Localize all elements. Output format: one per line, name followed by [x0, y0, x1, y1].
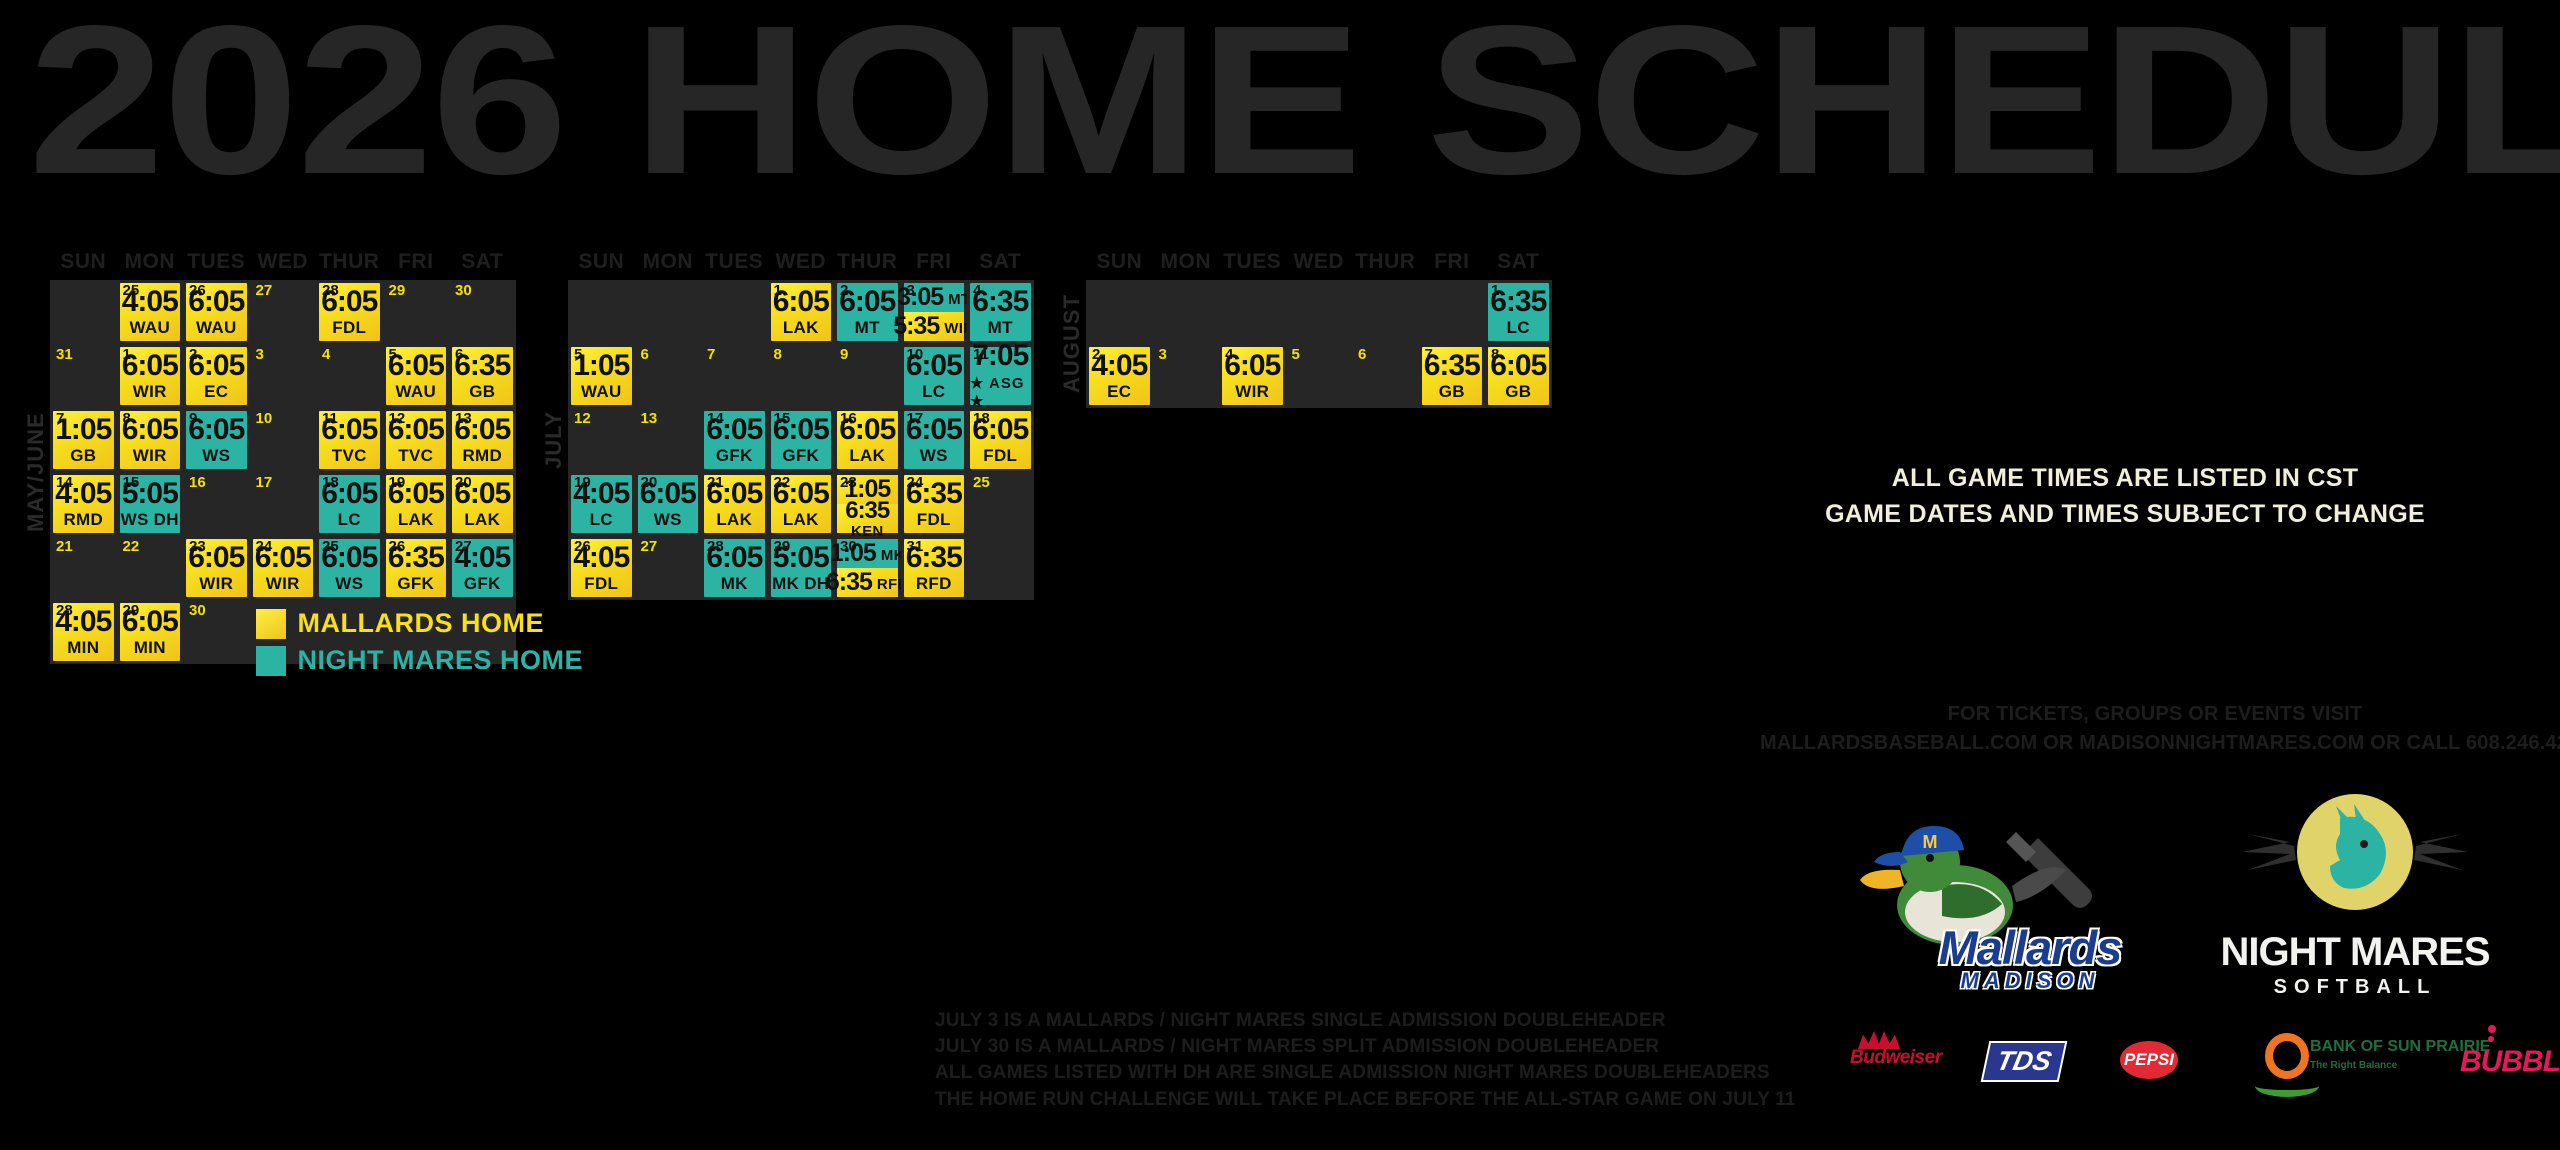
game-half: 5:35WIR — [904, 312, 965, 341]
calendar-day: 12 — [568, 408, 635, 472]
calendar-day: 16 — [183, 472, 250, 536]
legend-label-mallards: MALLARDS HOME — [298, 608, 544, 639]
game-opponent: WS DH — [121, 511, 179, 528]
calendar-day — [635, 280, 702, 344]
dow-tues: TUES — [183, 250, 250, 274]
day-number: 20 — [641, 475, 658, 490]
dow-sat: SAT — [967, 250, 1034, 274]
mallards-wordmark: Mallards — [1905, 920, 2155, 975]
day-number: 27 — [641, 539, 658, 554]
day-number: 5 — [574, 347, 582, 362]
game-half: 6:35KEN — [837, 504, 898, 533]
dow-sun: SUN — [1086, 250, 1153, 274]
footnote-2: JULY 30 IS A MALLARDS / NIGHT MARES SPLI… — [935, 1034, 1745, 1060]
calendar-day-game[interactable]: 6:35FDL24 — [901, 472, 968, 536]
legend-row-nightmares: NIGHT MARES HOME — [256, 645, 584, 676]
game-opponent: LAK — [398, 511, 434, 528]
calendar-day — [1419, 280, 1486, 344]
calendar-day: 4 — [316, 344, 383, 408]
calendar-day-game[interactable]: 6:05RMD13 — [449, 408, 516, 472]
page-title: 2026 HOME SCHEDULES — [28, 0, 2560, 206]
game-opponent: FDL — [983, 447, 1017, 464]
tickets-line-2[interactable]: MALLARDSBASEBALL.COM OR MADISONNIGHTMARE… — [1760, 729, 2550, 758]
day-number: 20 — [455, 475, 472, 490]
calendar-day-game[interactable]: 6:05WIR24 — [250, 536, 317, 600]
day-number: 1 — [774, 283, 782, 298]
calendar-day: 3 — [1153, 344, 1220, 408]
footnote-3: ALL GAMES LISTED WITH DH ARE SINGLE ADMI… — [935, 1060, 1745, 1086]
game-opponent: LC — [1507, 319, 1530, 336]
calendar-day-game[interactable]: 4:05EC2 — [1086, 344, 1153, 408]
calendar-day-game[interactable]: 6:05LC18 — [316, 472, 383, 536]
tickets-line-1: FOR TICKETS, GROUPS OR EVENTS VISIT — [1760, 700, 2550, 729]
footnote-1: JULY 3 IS A MALLARDS / NIGHT MARES SINGL… — [935, 1008, 1745, 1034]
day-number: 27 — [455, 539, 472, 554]
calendar-day — [967, 536, 1034, 600]
all-star-game-label: ★ ASG ★ — [970, 374, 1031, 410]
game-opponent: LAK — [783, 511, 819, 528]
calendar-day-game[interactable]: 1:05GB7 — [50, 408, 117, 472]
calendar-day-game[interactable]: 4:05LC19 — [568, 472, 635, 536]
calendar-day-game[interactable]: 4:05RMD14 — [50, 472, 117, 536]
day-number: 19 — [389, 475, 406, 490]
game-opponent: LC — [922, 383, 945, 400]
game-opponent: LAK — [716, 511, 752, 528]
day-number: 17 — [256, 475, 273, 490]
game-opponent: LAK — [464, 511, 500, 528]
calendar-day — [1286, 280, 1353, 344]
game-opponent: MK — [721, 575, 748, 592]
game-opponent: WIR — [1235, 383, 1269, 400]
day-number: 24 — [907, 475, 924, 490]
calendar-day: 7 — [701, 344, 768, 408]
calendar-day-game[interactable]: 6:05LAK16 — [834, 408, 901, 472]
dow-mon: MON — [635, 250, 702, 274]
dow-header: SUNMONTUESWEDTHURFRISAT — [50, 248, 516, 274]
game-opponent: GFK — [397, 575, 434, 592]
dow-sat: SAT — [1485, 250, 1552, 274]
game-opponent: MK DH — [772, 575, 829, 592]
day-number: 6 — [455, 347, 463, 362]
day-number: 26 — [189, 283, 206, 298]
day-number: 9 — [840, 347, 848, 362]
bubblr-dot-icon — [2488, 1025, 2496, 1033]
day-number: 30 — [189, 603, 206, 618]
day-number: 24 — [256, 539, 273, 554]
day-number: 5 — [1292, 347, 1300, 362]
calendar-day-game[interactable]: 6:05GB8 — [1485, 344, 1552, 408]
calendar-day-game[interactable]: 3:05MT5:35WIR3 — [901, 280, 968, 344]
calendar-day-game[interactable]: 6:35MT4 — [967, 280, 1034, 344]
day-number: 12 — [389, 411, 406, 426]
day-number: 18 — [322, 475, 339, 490]
legend-row-mallards: MALLARDS HOME — [256, 608, 584, 639]
calendar-day-game[interactable]: 4:05GFK27 — [449, 536, 516, 600]
dow-sun: SUN — [568, 250, 635, 274]
calendar-day-game[interactable]: 6:05WAU26 — [183, 280, 250, 344]
calendar-day-game[interactable]: 6:35GFK26 — [383, 536, 450, 600]
game-time: 3:05 — [897, 285, 943, 310]
calendar-day-game[interactable]: 4:05MIN28 — [50, 600, 117, 664]
calendar-day-game[interactable]: 6:05GFK14 — [701, 408, 768, 472]
day-number: 3 — [256, 347, 264, 362]
day-number: 2 — [189, 347, 197, 362]
game-opponent: LAK — [849, 447, 885, 464]
calendar-day-game[interactable]: 6:05LAK20 — [449, 472, 516, 536]
day-number: 9 — [189, 411, 197, 426]
calendar-day-game[interactable]: 6:05TVC11 — [316, 408, 383, 472]
game-opponent: WS — [202, 447, 230, 464]
game-opponent: FDL — [332, 319, 366, 336]
calendar-day: 22 — [117, 536, 184, 600]
nightmares-logo: NIGHT MARES SOFTBALL — [2190, 790, 2520, 1000]
dow-thur: THUR — [834, 250, 901, 274]
calendar-day: 6 — [1352, 344, 1419, 408]
month-label-july: JULY — [540, 280, 568, 600]
calendar-day-game[interactable]: 6:35LC1 — [1485, 280, 1552, 344]
game-opponent: WIR — [266, 575, 300, 592]
svg-text:M: M — [1923, 832, 1938, 852]
game-opponent: RMD — [63, 511, 103, 528]
calendar-day — [1153, 280, 1220, 344]
day-number: 11 — [973, 347, 989, 362]
game-half: 6:35RFD — [837, 568, 898, 597]
calendar-day-game[interactable]: 6:05LC10 — [901, 344, 968, 408]
calendar-day: 9 — [834, 344, 901, 408]
day-number: 6 — [1358, 347, 1366, 362]
dow-wed: WED — [250, 250, 317, 274]
dow-fri: FRI — [383, 250, 450, 274]
calendar-grid: 6:05LAK16:05MT23:05MT5:35WIR36:35MT41:05… — [568, 280, 1034, 600]
calendar-grid: 4:05WAU256:05WAU26276:05FDL282930316:05W… — [50, 280, 516, 664]
calendar-day: 13 — [635, 408, 702, 472]
calendar-day-game[interactable]: 1:05WAU5 — [568, 344, 635, 408]
calendar-day: 3 — [250, 344, 317, 408]
day-number: 1 — [123, 347, 131, 362]
calendar-day: 17 — [250, 472, 317, 536]
day-number: 4 — [322, 347, 330, 362]
calendar-day: 25 — [967, 472, 1034, 536]
day-number: 26 — [389, 539, 406, 554]
game-opponent: WIR — [133, 383, 167, 400]
month-label-may-june: MAY/JUNE — [22, 280, 50, 664]
calendar-day-game[interactable]: 6:05WS9 — [183, 408, 250, 472]
calendar-day — [1086, 280, 1153, 344]
calendar-day: 27 — [635, 536, 702, 600]
dow-fri: FRI — [901, 250, 968, 274]
game-opponent: FDL — [584, 575, 618, 592]
day-number: 31 — [56, 347, 73, 362]
game-opponent: GB — [1439, 383, 1465, 400]
day-number: 25 — [322, 539, 339, 554]
day-number: 14 — [707, 411, 724, 426]
game-opponent: RFD — [916, 575, 952, 592]
day-number: 28 — [56, 603, 73, 618]
calendar-day: 31 — [50, 344, 117, 408]
calendar-day: 21 — [50, 536, 117, 600]
dow-fri: FRI — [1419, 250, 1486, 274]
mallards-city: MADISON — [1925, 968, 2135, 994]
day-number: 15 — [774, 411, 791, 426]
calendar-day-game[interactable]: 5:05WS DH15 — [117, 472, 184, 536]
footnotes: JULY 3 IS A MALLARDS / NIGHT MARES SINGL… — [935, 1008, 1745, 1113]
dow-tues: TUES — [1219, 250, 1286, 274]
game-opponent: WIR — [199, 575, 233, 592]
day-number: 27 — [256, 283, 273, 298]
day-number: 29 — [774, 539, 791, 554]
game-opponent: MIN — [134, 639, 166, 656]
calendar-day-game[interactable]: 6:35GB6 — [449, 344, 516, 408]
calendar-may-june: SUNMONTUESWEDTHURFRISATMAY/JUNE4:05WAU25… — [22, 248, 516, 664]
calendar-day-game[interactable]: 6:05LAK22 — [768, 472, 835, 536]
game-opponent: GB — [469, 383, 495, 400]
calendar-day-game[interactable]: 6:05WIR1 — [117, 344, 184, 408]
day-number: 29 — [123, 603, 140, 618]
calendar-day-game[interactable]: 6:05WS17 — [901, 408, 968, 472]
calendar-day-game[interactable]: 6:05WIR23 — [183, 536, 250, 600]
day-number: 23 — [840, 475, 857, 490]
game-opponent: WIR — [133, 447, 167, 464]
day-number: 22 — [123, 539, 140, 554]
day-number: 18 — [973, 411, 990, 426]
game-opponent: MT — [855, 319, 880, 336]
day-number: 25 — [123, 283, 140, 298]
calendar-day-game[interactable]: 6:05LAK19 — [383, 472, 450, 536]
calendar-day: 29 — [383, 280, 450, 344]
nightmares-subtitle: SOFTBALL — [2190, 976, 2520, 999]
day-number: 10 — [907, 347, 924, 362]
bubblr-dot2-icon — [2488, 1036, 2494, 1042]
game-opponent: LC — [338, 511, 361, 528]
calendar-grid: 6:35LC14:05EC236:05WIR4566:35GB76:05GB8 — [1086, 280, 1552, 408]
day-number: 12 — [574, 411, 591, 426]
calendar-day-game[interactable]: 5:05MK DH29 — [768, 536, 835, 600]
game-opponent: TVC — [332, 447, 367, 464]
day-number: 21 — [56, 539, 73, 554]
game-opponent: WAU — [129, 319, 170, 336]
calendar-day-game[interactable]: 6:05GFK15 — [768, 408, 835, 472]
calendar-day-game[interactable]: 6:05MIN29 — [117, 600, 184, 664]
day-number: 14 — [56, 475, 73, 490]
game-opponent: TVC — [398, 447, 433, 464]
calendar-day-game[interactable]: 6:05WS25 — [316, 536, 383, 600]
day-number: 16 — [840, 411, 857, 426]
dow-header: SUNMONTUESWEDTHURFRISAT — [568, 248, 1034, 274]
calendar-day — [701, 280, 768, 344]
day-number: 2 — [840, 283, 848, 298]
day-number: 8 — [1491, 347, 1499, 362]
calendar-day — [1219, 280, 1286, 344]
day-number: 22 — [774, 475, 791, 490]
day-number: 6 — [641, 347, 649, 362]
day-number: 16 — [189, 475, 206, 490]
sponsor-bubblr: BUBBL'R — [2460, 1045, 2560, 1079]
bank-of-sun-prairie-ring-icon — [2265, 1033, 2309, 1079]
info-line-1: ALL GAME TIMES ARE LISTED IN CST — [1815, 460, 2435, 496]
dow-thur: THUR — [316, 250, 383, 274]
footnote-4: THE HOME RUN CHALLENGE WILL TAKE PLACE B… — [935, 1087, 1745, 1113]
sponsor-tds: TDS — [1981, 1041, 2068, 1082]
dow-sun: SUN — [50, 250, 117, 274]
calendar-day — [50, 280, 117, 344]
day-number: 11 — [322, 411, 338, 426]
calendar-day-game[interactable]: 6:35RFD31 — [901, 536, 968, 600]
calendar-day-game[interactable]: 6:05EC2 — [183, 344, 250, 408]
month-label-august: AUGUST — [1058, 280, 1086, 408]
game-opponent: WS — [654, 511, 682, 528]
game-opponent: EC — [204, 383, 228, 400]
calendar-day-game[interactable]: 7:05★ ASG ★11 — [967, 344, 1034, 408]
dow-wed: WED — [1286, 250, 1353, 274]
dow-mon: MON — [117, 250, 184, 274]
day-number: 1 — [1491, 283, 1499, 298]
calendar-day: 5 — [1286, 344, 1353, 408]
august-info-panel: ALL GAME TIMES ARE LISTED IN CST GAME DA… — [1815, 460, 2435, 533]
game-opponent: LAK — [783, 319, 819, 336]
bank-of-sun-prairie-arc-icon — [2255, 1075, 2319, 1097]
game-opponent: MIN — [67, 639, 99, 656]
dow-mon: MON — [1153, 250, 1220, 274]
dow-sat: SAT — [449, 250, 516, 274]
calendar-day: 30 — [449, 280, 516, 344]
game-opponent: EC — [1107, 383, 1131, 400]
day-number: 3 — [907, 283, 915, 298]
day-number: 15 — [123, 475, 140, 490]
game-opponent: WS — [920, 447, 948, 464]
game-opponent: LC — [590, 511, 613, 528]
calendar-day-game[interactable]: 6:05FDL18 — [967, 408, 1034, 472]
day-number: 8 — [123, 411, 131, 426]
calendar-day: 6 — [635, 344, 702, 408]
calendar-day-game[interactable]: 4:05FDL26 — [568, 536, 635, 600]
day-number: 8 — [774, 347, 782, 362]
game-opponent: RMD — [462, 447, 502, 464]
day-number: 31 — [907, 539, 924, 554]
nightmares-horse-icon — [2190, 790, 2520, 930]
day-number: 17 — [907, 411, 924, 426]
game-opponent: WAU — [581, 383, 622, 400]
legend: MALLARDS HOME NIGHT MARES HOME — [256, 608, 584, 682]
tickets-info: FOR TICKETS, GROUPS OR EVENTS VISIT MALL… — [1760, 700, 2550, 758]
calendar-day-game[interactable]: 6:05LAK21 — [701, 472, 768, 536]
day-number: 30 — [455, 283, 472, 298]
game-opponent: MT — [988, 319, 1013, 336]
calendar-day-game[interactable]: 6:05WAU5 — [383, 344, 450, 408]
day-number: 29 — [389, 283, 406, 298]
calendar-day-game[interactable]: 6:05MT2 — [834, 280, 901, 344]
game-opponent: WAU — [196, 319, 237, 336]
legend-swatch-mallards — [256, 609, 286, 639]
day-number: 4 — [973, 283, 981, 298]
mallards-logo: M Mallards MADISON — [1830, 800, 2160, 990]
sponsor-pepsi: PEPSI — [2120, 1041, 2178, 1079]
calendar-day-game[interactable]: 6:05WS20 — [635, 472, 702, 536]
nightmares-wordmark: NIGHT MARES — [2190, 930, 2520, 975]
sponsor-strip: Budweiser TDS PEPSI BANK OF SUN PRAIRIE … — [1770, 1025, 2560, 1095]
calendar-day-game[interactable]: 6:35GB7 — [1419, 344, 1486, 408]
calendar-day-game[interactable]: 4:05WAU25 — [117, 280, 184, 344]
calendar-day-game[interactable]: 6:05WIR8 — [117, 408, 184, 472]
day-number: 10 — [256, 411, 273, 426]
day-number: 5 — [389, 347, 397, 362]
day-number: 25 — [973, 475, 990, 490]
day-number: 2 — [1092, 347, 1100, 362]
calendar-day-game[interactable]: 1:05MK6:35RFD30 — [834, 536, 901, 600]
sponsor-budweiser: Budweiser — [1850, 1047, 1942, 1069]
day-number: 7 — [56, 411, 64, 426]
calendar-day: 30 — [183, 600, 250, 664]
game-time: 5:35 — [893, 314, 939, 339]
calendar-day — [1352, 280, 1419, 344]
day-number: 13 — [641, 411, 658, 426]
legend-swatch-nightmares — [256, 646, 286, 676]
day-number: 19 — [574, 475, 591, 490]
calendar-day — [568, 280, 635, 344]
dow-tues: TUES — [701, 250, 768, 274]
day-number: 7 — [707, 347, 715, 362]
game-opponent: WAU — [395, 383, 436, 400]
calendar-july: SUNMONTUESWEDTHURFRISATJULY6:05LAK16:05M… — [540, 248, 1034, 600]
sponsor-bosp-tagline: The Right Balance — [2310, 1060, 2397, 1071]
day-number: 4 — [1225, 347, 1233, 362]
calendar-day-game[interactable]: 6:05TVC12 — [383, 408, 450, 472]
day-number: 23 — [189, 539, 206, 554]
legend-label-nightmares: NIGHT MARES HOME — [298, 645, 584, 676]
day-number: 28 — [707, 539, 724, 554]
calendar-day-game[interactable]: 1:056:35KEN23 — [834, 472, 901, 536]
day-number: 28 — [322, 283, 339, 298]
dow-thur: THUR — [1352, 250, 1419, 274]
info-line-2: GAME DATES AND TIMES SUBJECT TO CHANGE — [1815, 496, 2435, 532]
dow-wed: WED — [768, 250, 835, 274]
calendar-day-game[interactable]: 6:05FDL28 — [316, 280, 383, 344]
calendar-day: 27 — [250, 280, 317, 344]
calendar-day-game[interactable]: 6:05LAK1 — [768, 280, 835, 344]
game-opponent: GB — [70, 447, 96, 464]
day-number: 30 — [840, 539, 857, 554]
calendar-day: 10 — [250, 408, 317, 472]
calendar-day-game[interactable]: 6:05MK28 — [701, 536, 768, 600]
game-opponent: GB — [1505, 383, 1531, 400]
game-time: 6:35 — [845, 499, 889, 523]
dow-header: SUNMONTUESWEDTHURFRISAT — [1086, 248, 1552, 274]
day-number: 7 — [1425, 347, 1433, 362]
day-number: 13 — [455, 411, 472, 426]
game-opponent: GFK — [716, 447, 753, 464]
game-opponent: FDL — [917, 511, 951, 528]
calendar-day-game[interactable]: 6:05WIR4 — [1219, 344, 1286, 408]
day-number: 3 — [1159, 347, 1167, 362]
calendar-august: SUNMONTUESWEDTHURFRISATAUGUST6:35LC14:05… — [1058, 248, 1552, 408]
game-time: 6:35 — [826, 570, 872, 595]
game-opponent: GFK — [464, 575, 501, 592]
game-opponent: WS — [335, 575, 363, 592]
day-number: 26 — [574, 539, 591, 554]
calendar-day: 8 — [768, 344, 835, 408]
game-opponent: GFK — [782, 447, 819, 464]
day-number: 21 — [707, 475, 724, 490]
